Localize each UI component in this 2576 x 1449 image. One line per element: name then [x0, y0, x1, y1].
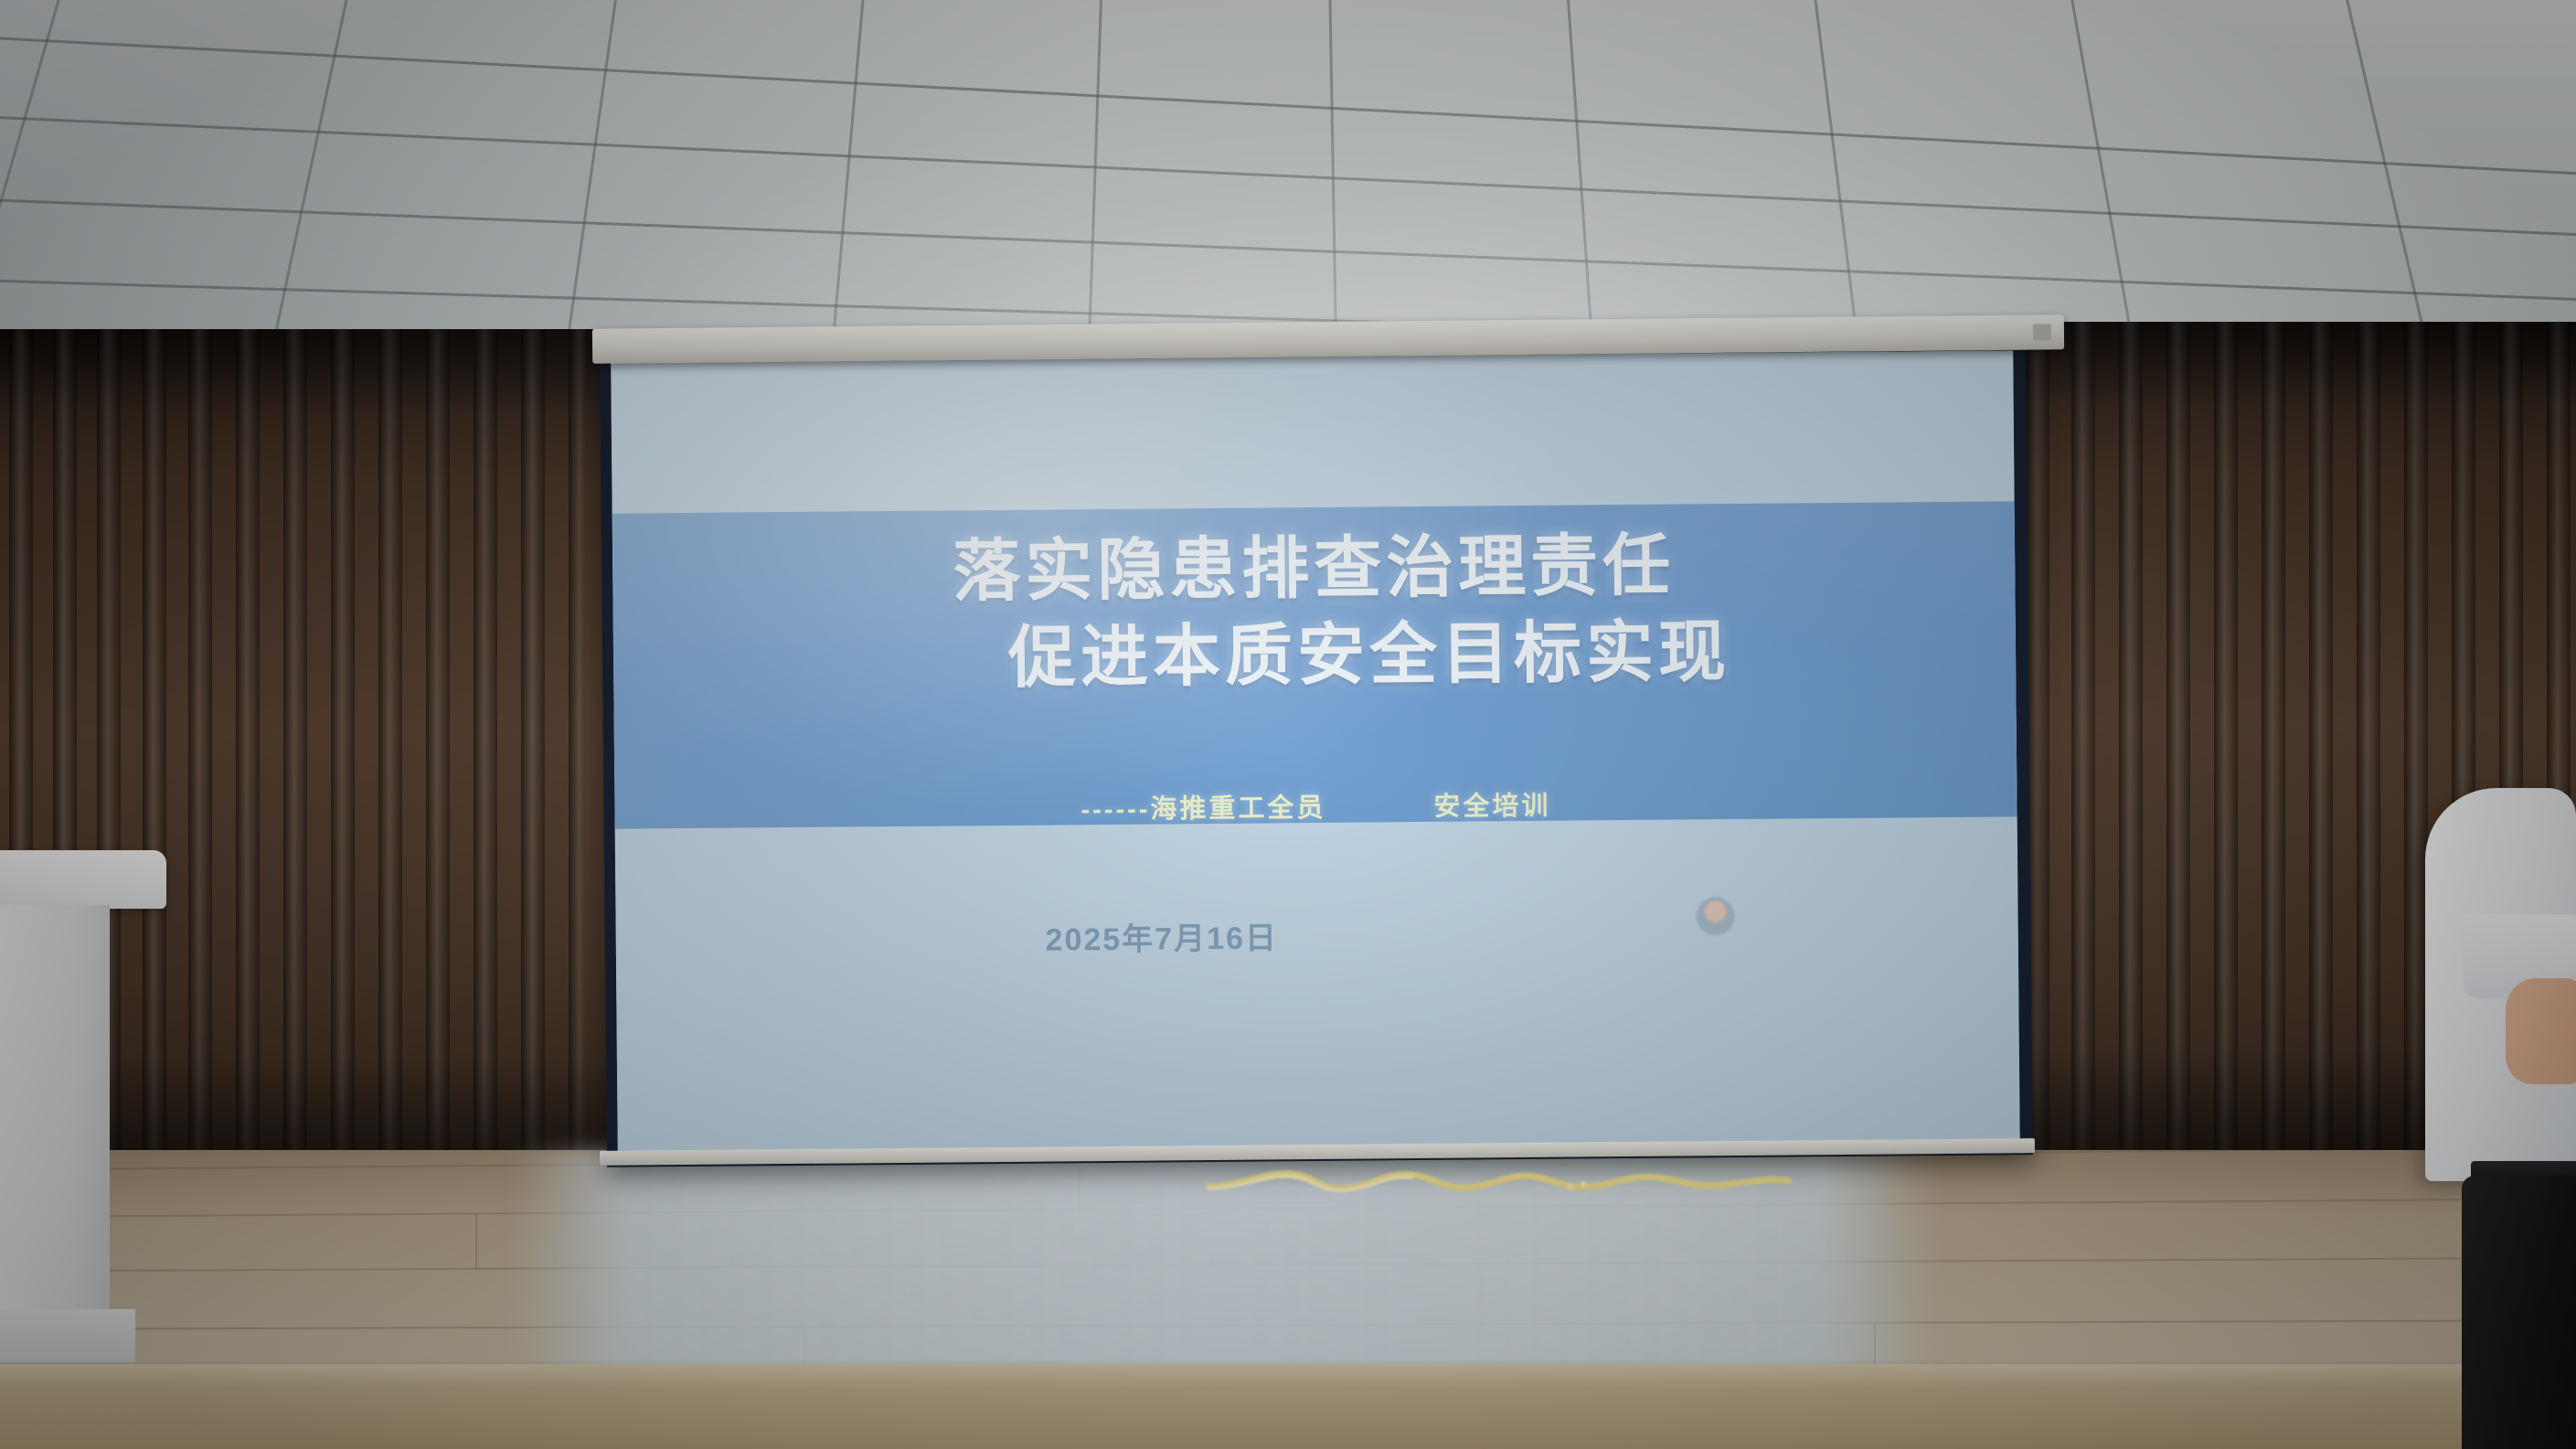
slide-title: 落实隐患排查治理责任 促进本质安全目标实现: [612, 519, 2017, 705]
attendee-arm: [2506, 978, 2576, 1084]
floor-front-edge: [0, 1364, 2576, 1388]
presentation-slide[interactable]: 落实隐患排查治理责任 促进本质安全目标实现 ------海推重工全员 安全培训 …: [611, 350, 2019, 1154]
slide-subtitle-right: 安全培训: [1433, 784, 1550, 824]
presenter-avatar-icon: [1696, 897, 1734, 935]
screen-surface[interactable]: 落实隐患排查治理责任 促进本质安全目标实现 ------海推重工全员 安全培训 …: [611, 350, 2019, 1154]
slide-subtitle-left: ------海推重工全员: [1080, 786, 1325, 826]
room-photo-scene: 落实隐患排查治理责任 促进本质安全目标实现 ------海推重工全员 安全培训 …: [0, 0, 2576, 1449]
lectern[interactable]: [0, 850, 170, 1362]
slide-date: 2025年7月16日: [616, 906, 2018, 963]
housing-endcap: [2033, 324, 2051, 340]
lectern-body: [0, 905, 110, 1316]
projector-screen[interactable]: 落实隐患排查治理责任 促进本质安全目标实现 ------海推重工全员 安全培训 …: [600, 341, 2033, 1167]
lectern-top: [0, 850, 166, 909]
slide-title-line-2: 促进本质安全目标实现: [613, 606, 2017, 705]
lectern-base: [0, 1309, 135, 1362]
slide-title-line-1: 落实隐患排查治理责任: [953, 527, 1676, 610]
gold-ribbon-light-strip: [1207, 1167, 1792, 1198]
attendee-trousers: [2462, 1176, 2576, 1449]
floor-foreground: [0, 1388, 2576, 1449]
standing-attendee: [2418, 788, 2576, 1449]
